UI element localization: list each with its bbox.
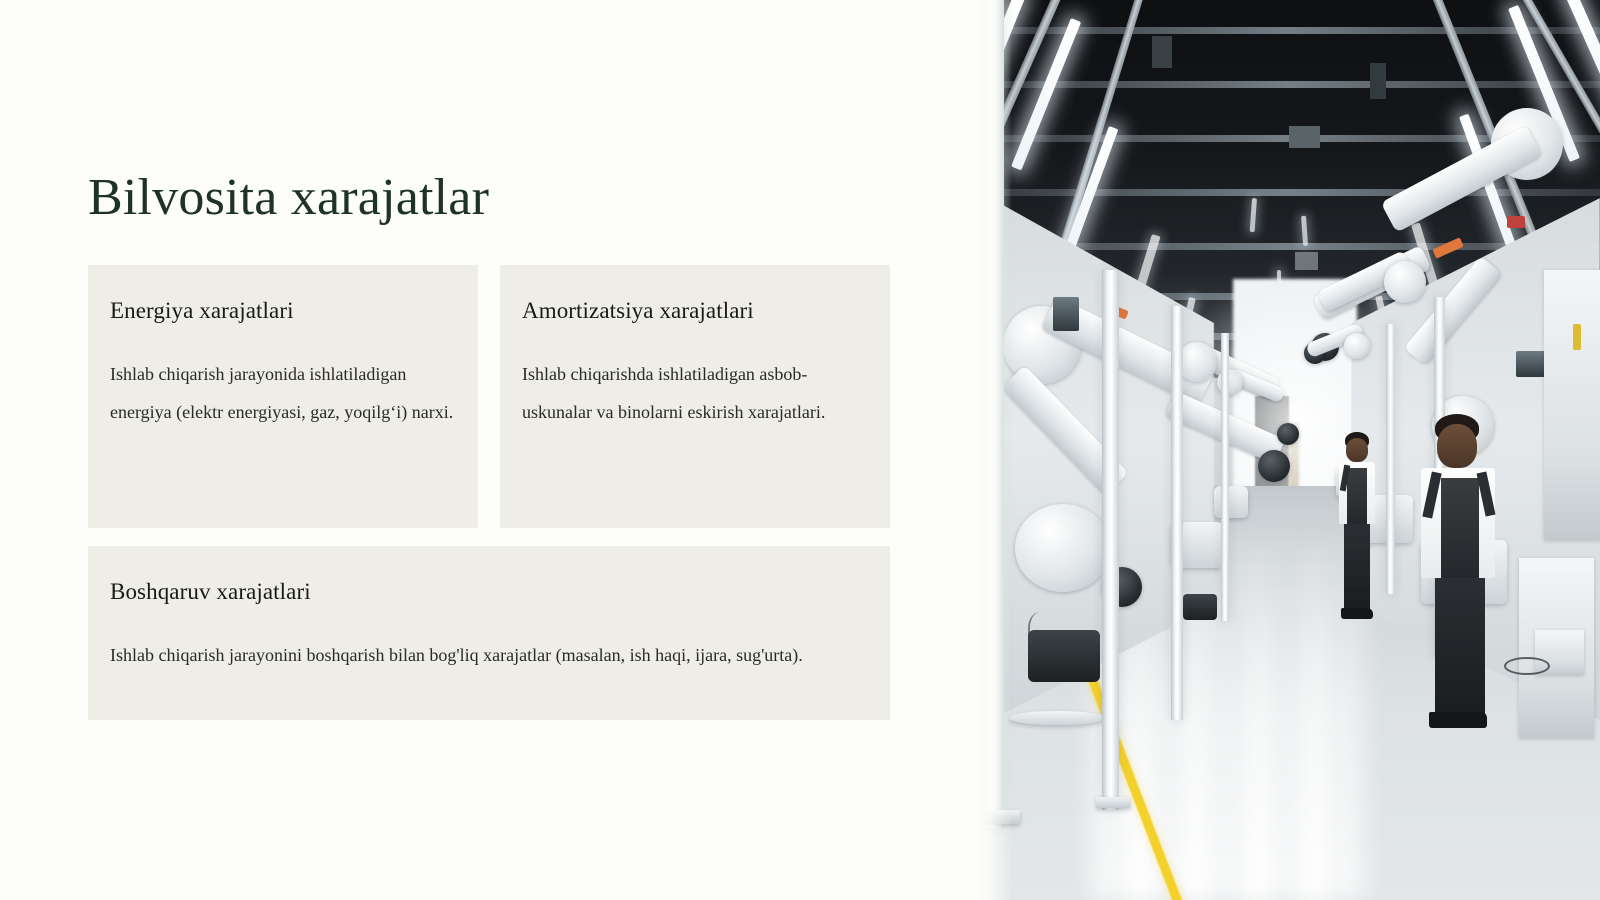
robot-base-plate xyxy=(1183,594,1217,620)
worker-shoe xyxy=(1341,608,1373,619)
floor-cable xyxy=(1028,612,1058,652)
worker-legs xyxy=(1435,578,1485,718)
ceiling-duct xyxy=(1295,252,1317,270)
ceiling-beam xyxy=(978,189,1600,196)
worker-head xyxy=(1437,424,1477,468)
robot-wrist-joint xyxy=(1277,423,1299,445)
card-body: Ishlab chiqarishda ishlatiladigan asbob-… xyxy=(522,355,874,431)
photo-content xyxy=(978,0,1600,900)
robot-base-joint xyxy=(1015,504,1111,592)
structural-pillar xyxy=(1386,324,1395,594)
structural-pillar xyxy=(1171,306,1183,720)
robot-shoulder-joint xyxy=(1384,261,1426,303)
worker-vest xyxy=(1441,478,1479,582)
card-boshqaruv-xarajatlari: Boshqaruv xarajatlari Ishlab chiqarish j… xyxy=(88,546,890,720)
robot-shoulder-joint xyxy=(1344,333,1370,359)
card-body: Ishlab chiqarish jarayonini boshqarish b… xyxy=(110,636,868,674)
worker-background xyxy=(1333,432,1385,828)
ceiling-beam xyxy=(978,81,1600,88)
card-amortizatsiya-xarajatlari: Amortizatsiya xarajatlari Ishlab chiqari… xyxy=(500,265,890,528)
robot-accent xyxy=(1507,216,1525,228)
structural-pillar xyxy=(1102,270,1119,810)
worker-vest xyxy=(1347,468,1367,526)
floor-reflection xyxy=(1301,522,1327,900)
structural-pillar xyxy=(1221,333,1229,621)
content-panel: Bilvosita xarajatlar Energiya xarajatlar… xyxy=(0,0,978,900)
slide-root: Bilvosita xarajatlar Energiya xarajatlar… xyxy=(0,0,1600,900)
photo-edge-fade xyxy=(978,0,1012,900)
floor-cable xyxy=(1504,657,1550,675)
ceiling-duct xyxy=(1152,36,1172,68)
worker-head xyxy=(1346,438,1368,462)
robot-base-housing xyxy=(1214,486,1248,518)
cabinet-indicator xyxy=(1573,324,1581,350)
worker-legs xyxy=(1344,524,1370,612)
pillar-foot xyxy=(1096,797,1130,808)
card-title: Amortizatsiya xarajatlari xyxy=(522,298,754,324)
card-title: Energiya xarajatlari xyxy=(110,298,294,324)
card-energiya-xarajatlari: Energiya xarajatlari Ishlab chiqarish ja… xyxy=(88,265,478,528)
card-title: Boshqaruv xarajatlari xyxy=(110,579,311,605)
robot-shoulder-joint xyxy=(1177,342,1217,382)
factory-robot-assembly-line-photo xyxy=(978,0,1600,900)
robot-base-plate xyxy=(1009,711,1105,725)
robot-controller-panel xyxy=(1053,297,1079,331)
floor-reflection xyxy=(1245,522,1271,900)
ceiling-duct xyxy=(1289,126,1320,148)
card-body: Ishlab chiqarish jarayonida ishlatiladig… xyxy=(110,355,462,431)
page-title: Bilvosita xarajatlar xyxy=(88,168,489,227)
ceiling-duct xyxy=(1370,63,1386,99)
equipment-cabinet xyxy=(1544,270,1600,540)
worker-foreground xyxy=(1415,414,1507,900)
worker-shoe xyxy=(1429,712,1487,728)
robot-wrist-joint xyxy=(1258,450,1290,482)
